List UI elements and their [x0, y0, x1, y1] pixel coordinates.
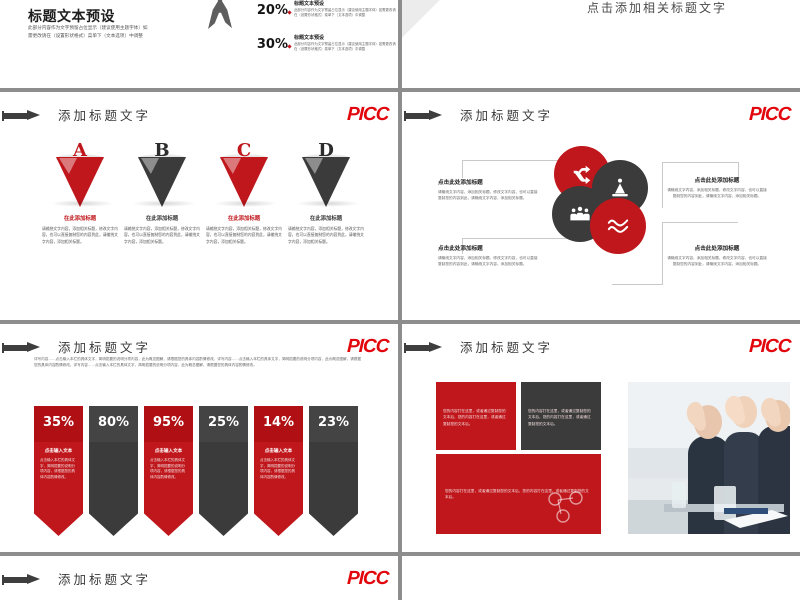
- percent-value: 25%: [199, 415, 248, 430]
- applause-meeting-photo: [628, 382, 790, 534]
- arrow-right-icon: [404, 343, 442, 352]
- stat-heading: 标题文本预设: [294, 0, 324, 7]
- banner-label: 点击输入文本: [144, 448, 193, 454]
- callout-top-right: 点击此处添加标题 请输绕文字内容，添加相关标题，修改文字内容，也可以直接复制您的…: [666, 176, 768, 199]
- content-box-text: 您的内容打在这里，或者通过复制您的文本后，您的内容打在这里，或者通过复制您的文本…: [443, 408, 509, 427]
- callout-heading: 点击此处添加标题: [438, 244, 540, 252]
- slide3-header-title: 添加标题文字: [58, 105, 151, 124]
- callout-heading: 点击此处添加标题: [666, 244, 768, 252]
- content-box-red-2: 您的内容打在这里，或者通过复制您的文本后，您的内容打在这里，或者通过复制您的文本…: [436, 454, 601, 534]
- banner-body: 点击输入本栏的具体文字，简明扼要的说明分项内容，请根据您的具体内容酌情修改。: [150, 458, 187, 480]
- arrow-right-icon: [2, 343, 40, 352]
- arrow-right-icon: [404, 111, 442, 120]
- connector-line: [612, 284, 663, 286]
- slide2-headline: 点击添加相关标题文字: [587, 0, 727, 16]
- slide1-title: 标题文本预设: [28, 6, 115, 26]
- slide-header: 添加标题文字 PICC: [0, 332, 398, 352]
- slide-thumbnail-7[interactable]: 添加标题文字 PICC: [0, 556, 398, 600]
- cone-letter: A: [40, 140, 120, 161]
- cone-body-text: 请输绕文字内容，添加相关标题，修改文字内容，也可以直接复制您的内容到此，请输绕文…: [288, 226, 364, 245]
- callout-bottom-left: 点击此处添加标题 请输绕文字内容，添加相关标题，修改文字内容，也可以直接复制您的…: [438, 244, 540, 267]
- slide-thumbnail-3[interactable]: 添加标题文字 PICC A 在此添加标题 请输绕文字内容，添加相关标题，修改文字…: [0, 92, 398, 320]
- slide4-header-title: 添加标题文字: [460, 105, 553, 124]
- callout-body: 请输绕文字内容，添加相关标题，修改文字内容，也可以直接复制您的内容到此，请输绕文…: [666, 255, 768, 267]
- content-box-text: 您的内容打在这里，或者通过复制您的文本后，您的内容打在这里，或者通过复制您的文本…: [528, 408, 594, 427]
- cone-caption: 在此添加标题: [40, 214, 120, 222]
- slide-thumbnail-grid: 标题文本预设 此部分内容作为文字预留占位显示（建议使用主题字体）如需更改请在（设…: [0, 0, 800, 600]
- cone-body-text: 请输绕文字内容，添加相关标题，修改文字内容，也可以直接复制您的内容到此，请输绕文…: [206, 226, 282, 245]
- slide-header: 添加标题文字 PICC: [402, 100, 800, 120]
- stat-row: 20% 标题文本预设 此部分内容作为文字预留占位显示（建议使用主题字体）如需更改…: [248, 0, 398, 26]
- picc-logo: PICC: [748, 336, 790, 358]
- callout-top-left: 点击此处添加标题 请输绕文字内容，添加相关标题，修改文字内容，也可以直接复制您的…: [438, 178, 540, 201]
- stat-heading: 标题文本预设: [294, 34, 324, 41]
- percent-value: 35%: [34, 415, 83, 430]
- connector-line: [662, 162, 664, 208]
- bullet-icon: [287, 10, 291, 14]
- slide6-header-title: 添加标题文字: [460, 337, 553, 356]
- cone-letter: D: [286, 140, 366, 161]
- slide-thumbnail-2[interactable]: 点击添加相关标题文字: [402, 0, 800, 88]
- content-box-red-1: 您的内容打在这里，或者通过复制您的文本后，您的内容打在这里，或者通过复制您的文本…: [436, 382, 516, 450]
- picc-logo: PICC: [346, 568, 388, 590]
- picc-logo: PICC: [346, 104, 388, 126]
- slide-thumbnail-1[interactable]: 标题文本预设 此部分内容作为文字预留占位显示（建议使用主题字体）如需更改请在（设…: [0, 0, 398, 88]
- callout-heading: 点击此处添加标题: [438, 178, 540, 186]
- arrow-right-icon: [2, 575, 40, 584]
- decorative-diamond: [402, 0, 455, 63]
- callout-bottom-right: 点击此处添加标题 请输绕文字内容，添加相关标题，修改文字内容，也可以直接复制您的…: [666, 244, 768, 267]
- banner-label: 点击输入文本: [254, 448, 303, 454]
- banner-body: 点击输入本栏的具体文字，简明扼要的说明分项内容，请根据您的具体内容酌情修改。: [40, 458, 77, 480]
- banner-label: 点击输入文本: [34, 448, 83, 454]
- cone-caption: 在此添加标题: [286, 214, 366, 222]
- content-box-dark: 您的内容打在这里，或者通过复制您的文本后，您的内容打在这里，或者通过复制您的文本…: [521, 382, 601, 450]
- arrow-right-icon: [2, 111, 40, 120]
- connector-line: [662, 162, 738, 164]
- stat-row: 30% 标题文本预设 此部分内容作为文字预留占位显示（建议使用主题字体）如需更改…: [248, 32, 398, 60]
- slide-header: 添加标题文字 PICC: [0, 564, 398, 584]
- percent-value: 23%: [309, 415, 358, 430]
- cone-letter: B: [122, 140, 202, 161]
- slide1-subtitle: 此部分内容作为文字预留占位显示（建议使用主题字体）如需更改请在（设置形状格式）菜…: [28, 24, 148, 40]
- slide-thumbnail-5[interactable]: 添加标题文字 PICC 详写内容……点击输入本栏的具体文字，简明扼要的说明分项内…: [0, 324, 398, 552]
- callout-body: 请输绕文字内容，添加相关标题，修改文字内容，也可以直接复制您的内容到此，请输绕文…: [438, 255, 540, 267]
- stat-body: 此部分内容作为文字预留占位显示（建议使用主题字体）如需更改请在（设置形状格式）菜…: [294, 8, 398, 18]
- picc-logo: PICC: [346, 336, 388, 358]
- connector-line: [662, 222, 738, 224]
- stat-value: 20%: [248, 3, 288, 18]
- percent-banner: 80%: [89, 406, 138, 536]
- cone-body-text: 请输绕文字内容，添加相关标题，修改文字内容，也可以直接复制您的内容到此，请输绕文…: [124, 226, 200, 245]
- percent-value: 95%: [144, 415, 193, 430]
- slide-thumbnail-6[interactable]: 添加标题文字 PICC 您的内容打在这里，或者通过复制您的文本后，您的内容打在这…: [402, 324, 800, 552]
- slide-thumbnail-4[interactable]: 添加标题文字 PICC: [402, 92, 800, 320]
- picc-logo: PICC: [748, 104, 790, 126]
- slide-header: 添加标题文字 PICC: [402, 332, 800, 352]
- banner-body: 点击输入本栏的具体文字，简明扼要的说明分项内容，请根据您的具体内容酌情修改。: [260, 458, 297, 480]
- percent-value: 14%: [254, 415, 303, 430]
- callout-heading: 点击此处添加标题: [666, 176, 768, 184]
- bullet-icon: [287, 44, 291, 48]
- slide5-header-title: 添加标题文字: [58, 337, 151, 356]
- callout-body: 请输绕文字内容，添加相关标题，修改文字内容，也可以直接复制您的内容到此，请输绕文…: [438, 189, 540, 201]
- slide-thumbnail-8[interactable]: [402, 556, 800, 600]
- connector-line: [662, 222, 664, 284]
- slide1-stat-list: 25% 标题文本预设 此部分内容作为文字预留占位显示（建议使用主题字体）如需更改…: [248, 0, 398, 66]
- percent-value: 80%: [89, 415, 138, 430]
- percent-banner: 95% 点击输入文本 点击输入本栏的具体文字，简明扼要的说明分项内容，请根据您的…: [144, 406, 193, 536]
- cone-caption: 在此添加标题: [204, 214, 284, 222]
- stat-body: 此部分内容作为文字预留占位显示（建议使用主题字体）如需更改请在（设置形状格式）菜…: [294, 42, 398, 52]
- slide-header: 添加标题文字 PICC: [0, 100, 398, 120]
- percent-banner: 23%: [309, 406, 358, 536]
- connector-line: [462, 160, 464, 178]
- molecule-icon: [545, 490, 585, 524]
- percent-banner: 35% 点击输入文本 点击输入本栏的具体文字，简明扼要的说明分项内容，请根据您的…: [34, 406, 83, 536]
- percent-banner: 25%: [199, 406, 248, 536]
- percent-banner: 14% 点击输入文本 点击输入本栏的具体文字，简明扼要的说明分项内容，请根据您的…: [254, 406, 303, 536]
- slide7-header-title: 添加标题文字: [58, 569, 151, 588]
- cone-body-text: 请输绕文字内容，添加相关标题，修改文字内容，也可以直接复制您的内容到此，请输绕文…: [42, 226, 118, 245]
- cone-letter: C: [204, 140, 284, 161]
- cone-caption: 在此添加标题: [122, 214, 202, 222]
- petal-diagram: [552, 142, 662, 262]
- stat-value: 30%: [248, 37, 288, 52]
- slide5-intro-text: 详写内容……点击输入本栏的具体文字，简明扼要的说明分项内容，此为概念图解，请根据…: [34, 356, 364, 369]
- callout-body: 请输绕文字内容，添加相关标题，修改文字内容，也可以直接复制您的内容到此，请输绕文…: [666, 187, 768, 199]
- trend-line-icon: [590, 198, 646, 254]
